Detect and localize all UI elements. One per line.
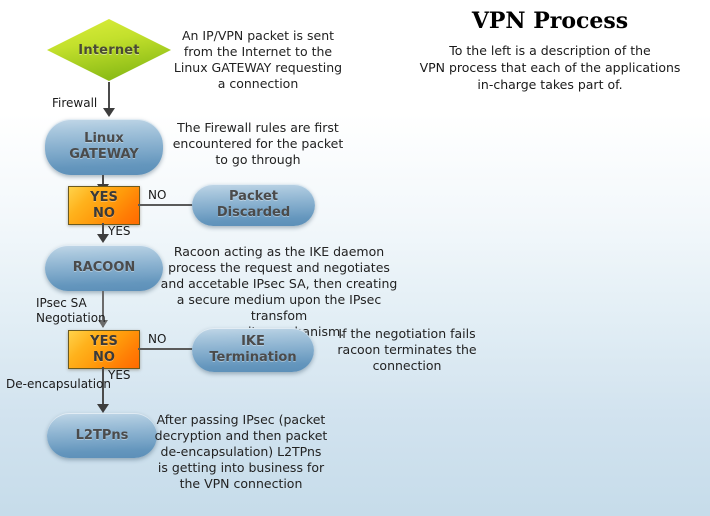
node-ike-termination-label-1: IKE [209, 334, 296, 350]
edge-label-yes-2: YES [108, 368, 131, 383]
panel-subtitle-line-3: in-charge takes part of. [400, 76, 700, 93]
node-packet-discarded[interactable]: Packet Discarded [192, 184, 315, 226]
node-packet-discarded-label-2: Discarded [217, 205, 290, 221]
node-l2tpns-label: L2TPns [76, 428, 129, 444]
note-l2tpns-line-4: is getting into business for [145, 460, 337, 476]
arrowhead-icon [103, 108, 115, 117]
edge-label-firewall: Firewall [52, 96, 97, 111]
note-l2tpns-line-1: After passing IPsec (packet [145, 412, 337, 428]
note-internet-line-2: from the Internet to the [156, 44, 360, 60]
arrowhead-icon [97, 404, 109, 413]
node-ike-termination-label-2: Termination [209, 350, 296, 366]
edge-label-yes-1: YES [108, 224, 131, 239]
note-racoon-line-1: Racoon acting as the IKE daemon [155, 244, 403, 260]
node-packet-discarded-label-1: Packet [217, 189, 290, 205]
node-racoon[interactable]: RACOON [45, 245, 163, 291]
node-l2tpns[interactable]: L2TPns [47, 413, 157, 458]
note-ike-line-2: racoon terminates the [317, 342, 497, 358]
note-l2tpns-line-5: the VPN connection [145, 476, 337, 492]
note-racoon-line-2: process the request and negotiates [155, 260, 403, 276]
right-panel: VPN Process To the left is a description… [400, 8, 700, 85]
edge-label-no-2: NO [148, 332, 166, 347]
note-l2tpns: After passing IPsec (packet decryption a… [145, 412, 337, 492]
node-linux-gateway-label-2: GATEWAY [69, 147, 138, 163]
node-decision-firewall-no: NO [93, 206, 115, 222]
node-linux-gateway-label-1: Linux [69, 131, 138, 147]
note-ike-termination: If the negotiation fails racoon terminat… [317, 326, 497, 374]
node-ike-termination[interactable]: IKE Termination [192, 328, 314, 372]
note-racoon-line-3: and accetable IPsec SA, then creating [155, 276, 403, 292]
node-decision-firewall[interactable]: YES NO [68, 186, 140, 225]
note-ike-line-1: If the negotiation fails [317, 326, 497, 342]
edge-label-ipsec-sa-negotiation-line-1: IPsec SA [36, 296, 106, 311]
edge-label-no-1: NO [148, 188, 166, 203]
edge-label-ipsec-sa-negotiation: IPsec SA Negotiation [36, 296, 106, 326]
note-internet-line-4: a connection [156, 76, 360, 92]
node-racoon-label: RACOON [73, 260, 136, 276]
note-gateway-line-3: to go through [168, 152, 348, 168]
note-internet-line-1: An IP/VPN packet is sent [156, 28, 360, 44]
node-linux-gateway[interactable]: Linux GATEWAY [45, 119, 163, 175]
node-decision-ipsec-yes: YES [90, 334, 118, 350]
connector-decision1-no [138, 204, 193, 206]
note-l2tpns-line-3: de-encapsulation) L2TPns [145, 444, 337, 460]
panel-subtitle-line-2: VPN process that each of the application… [400, 59, 700, 76]
node-internet[interactable]: Internet [46, 18, 172, 82]
panel-subtitle: To the left is a description of the VPN … [400, 42, 700, 93]
note-internet-line-3: Linux GATEWAY requesting [156, 60, 360, 76]
note-gateway: The Firewall rules are first encountered… [168, 120, 348, 168]
note-gateway-line-1: The Firewall rules are first [168, 120, 348, 136]
panel-subtitle-line-1: To the left is a description of the [400, 42, 700, 59]
node-decision-ipsec-no: NO [93, 350, 115, 366]
note-l2tpns-line-2: decryption and then packet [145, 428, 337, 444]
connector-decision2-no [138, 348, 193, 350]
note-gateway-line-2: encountered for the packet [168, 136, 348, 152]
connector-internet-to-gateway [108, 82, 110, 110]
note-ike-line-3: connection [317, 358, 497, 374]
note-internet: An IP/VPN packet is sent from the Intern… [156, 28, 360, 92]
page-title: VPN Process [400, 8, 700, 34]
diamond-shape-icon [46, 18, 172, 82]
edge-label-ipsec-sa-negotiation-line-2: Negotiation [36, 311, 106, 326]
edge-label-de-encapsulation: De-encapsulation [6, 377, 111, 392]
node-decision-firewall-yes: YES [90, 190, 118, 206]
node-decision-ipsec[interactable]: YES NO [68, 330, 140, 369]
diagram-canvas: Internet Firewall An IP/VPN packet is se… [0, 0, 710, 516]
note-racoon-line-4: a secure medium upon the IPsec transfom [155, 292, 403, 324]
